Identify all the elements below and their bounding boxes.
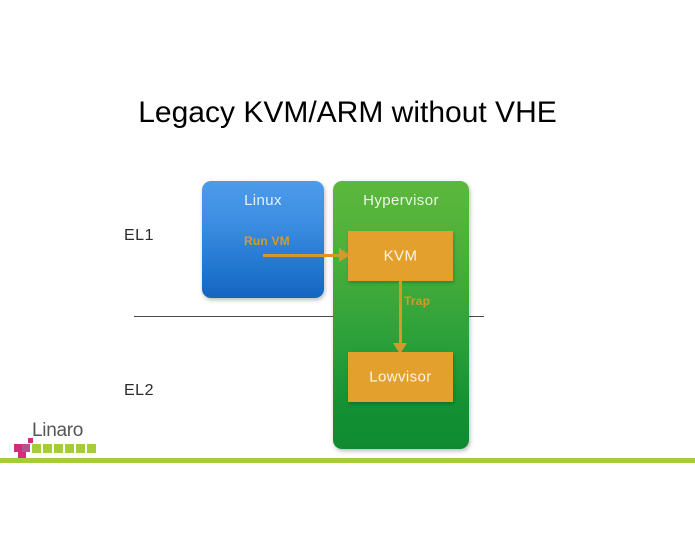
- linux-box-label: Linux: [202, 192, 324, 209]
- lowvisor-box-label: Lowvisor: [348, 369, 453, 386]
- trap-arrow-label: Trap: [404, 294, 430, 308]
- el1-level-label: EL1: [124, 227, 154, 245]
- trap-arrow-shaft: [399, 281, 402, 345]
- linaro-wordmark-text: Linaro: [32, 420, 83, 442]
- logo-green-square-2: [43, 444, 52, 453]
- slide-canvas: Legacy KVM/ARM without VHE EL1 EL2 Linux…: [0, 0, 695, 537]
- run-vm-arrow-head-icon: [339, 248, 350, 262]
- page-title: Legacy KVM/ARM without VHE: [0, 96, 695, 130]
- logo-accent-square-1: [14, 444, 22, 452]
- logo-green-square-5: [76, 444, 85, 453]
- logo-green-square-3: [54, 444, 63, 453]
- logo-green-square-4: [65, 444, 74, 453]
- trap-arrow-head-icon: [393, 343, 407, 354]
- logo-green-square-1: [32, 444, 41, 453]
- kvm-component-box: KVM: [348, 231, 453, 281]
- run-vm-arrow-label: Run VM: [244, 234, 290, 248]
- lowvisor-component-box: Lowvisor: [348, 352, 453, 402]
- logo-accent-square-2: [22, 444, 30, 452]
- logo-green-square-6: [87, 444, 96, 453]
- hypervisor-box-label: Hypervisor: [333, 192, 469, 209]
- run-vm-arrow-shaft: [263, 254, 341, 257]
- el2-level-label: EL2: [124, 382, 154, 400]
- footer-accent-bar: [0, 458, 695, 463]
- logo-accent-square-4: [28, 438, 33, 443]
- linaro-logo: Linaro: [14, 420, 100, 458]
- kvm-box-label: KVM: [348, 248, 453, 265]
